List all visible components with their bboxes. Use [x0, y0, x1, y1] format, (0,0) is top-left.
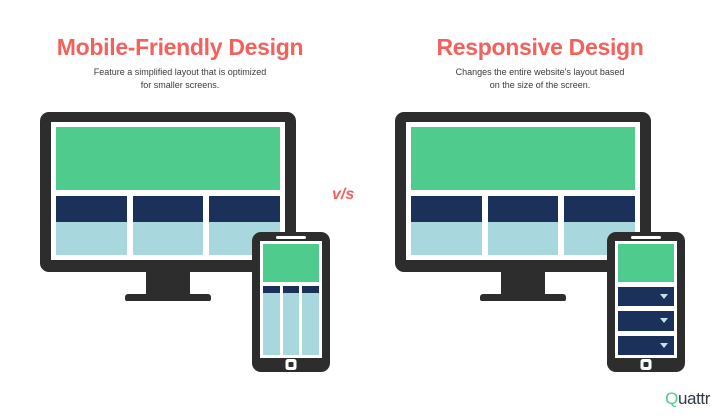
- left-subheading-line1: Feature a simplified layout that is opti…: [94, 67, 267, 77]
- left-desktop-card-header: [56, 196, 127, 222]
- right-phone: [607, 232, 685, 372]
- right-phone-body: [607, 232, 685, 372]
- left-phone-column: [263, 286, 280, 355]
- right-monitor-neck: [501, 272, 545, 294]
- brand-logo: Q uattr: [665, 389, 710, 409]
- left-phone-home-button: [286, 359, 297, 370]
- left-phone-body: [252, 232, 330, 372]
- right-heading: Responsive Design: [360, 34, 720, 61]
- chevron-down-icon: [660, 318, 668, 323]
- right-subheading-line2: on the size of the screen.: [360, 79, 720, 92]
- right-phone-accordion-row: [618, 336, 674, 355]
- left-desktop-hero-banner: [56, 127, 280, 190]
- left-desktop-card-body: [56, 222, 127, 255]
- left-phone-screen: [260, 241, 322, 358]
- logo-letter-q: Q: [665, 389, 678, 409]
- right-monitor-screen: [406, 122, 640, 260]
- right-desktop-column: [488, 196, 559, 255]
- right-desktop-card-body: [411, 222, 482, 255]
- left-subheading-line2: for smaller screens.: [0, 79, 360, 92]
- left-desktop-card-header: [209, 196, 280, 222]
- right-phone-accordion-row: [618, 287, 674, 306]
- left-heading: Mobile-Friendly Design: [0, 34, 360, 61]
- left-desktop-columns: [56, 196, 280, 255]
- left-desktop-card-body: [133, 222, 204, 255]
- right-desktop-card-header: [411, 196, 482, 222]
- left-phone-column: [302, 286, 319, 355]
- left-phone-card-header: [283, 286, 300, 293]
- left-phone-columns: [263, 286, 319, 355]
- right-monitor-base: [480, 294, 566, 301]
- right-phone-hero-banner: [618, 244, 674, 282]
- left-phone-speaker: [276, 236, 306, 239]
- right-phone-stacked-rows: [618, 287, 674, 355]
- right-desktop-hero-banner: [411, 127, 635, 190]
- left-phone-hero-banner: [263, 244, 319, 282]
- right-phone-home-button: [641, 359, 652, 370]
- panel-mobile-friendly: Mobile-Friendly Design Feature a simplif…: [0, 0, 360, 419]
- right-phone-accordion-row: [618, 311, 674, 330]
- left-phone-card-body: [283, 293, 300, 355]
- right-phone-speaker: [631, 236, 661, 239]
- right-subheading: Changes the entire website's layout base…: [360, 66, 720, 92]
- infographic-canvas: Mobile-Friendly Design Feature a simplif…: [0, 0, 720, 419]
- left-phone-card-header: [263, 286, 280, 293]
- logo-wordmark: uattr: [678, 389, 710, 409]
- left-subheading: Feature a simplified layout that is opti…: [0, 66, 360, 92]
- chevron-down-icon: [660, 294, 668, 299]
- left-phone-card-body: [263, 293, 280, 355]
- left-desktop-column: [56, 196, 127, 255]
- left-phone-card-body: [302, 293, 319, 355]
- left-desktop-card-header: [133, 196, 204, 222]
- right-desktop-card-body: [488, 222, 559, 255]
- right-phone-screen: [615, 241, 677, 358]
- left-monitor-base: [125, 294, 211, 301]
- right-desktop-card-header: [564, 196, 635, 222]
- left-monitor-screen: [51, 122, 285, 260]
- right-desktop-columns: [411, 196, 635, 255]
- right-desktop-card-header: [488, 196, 559, 222]
- chevron-down-icon: [660, 343, 668, 348]
- left-phone: [252, 232, 330, 372]
- left-monitor-neck: [146, 272, 190, 294]
- left-phone-column: [283, 286, 300, 355]
- left-phone-card-header: [302, 286, 319, 293]
- right-desktop-column: [411, 196, 482, 255]
- versus-label: v/s: [332, 186, 354, 204]
- right-subheading-line1: Changes the entire website's layout base…: [456, 67, 625, 77]
- left-desktop-column: [133, 196, 204, 255]
